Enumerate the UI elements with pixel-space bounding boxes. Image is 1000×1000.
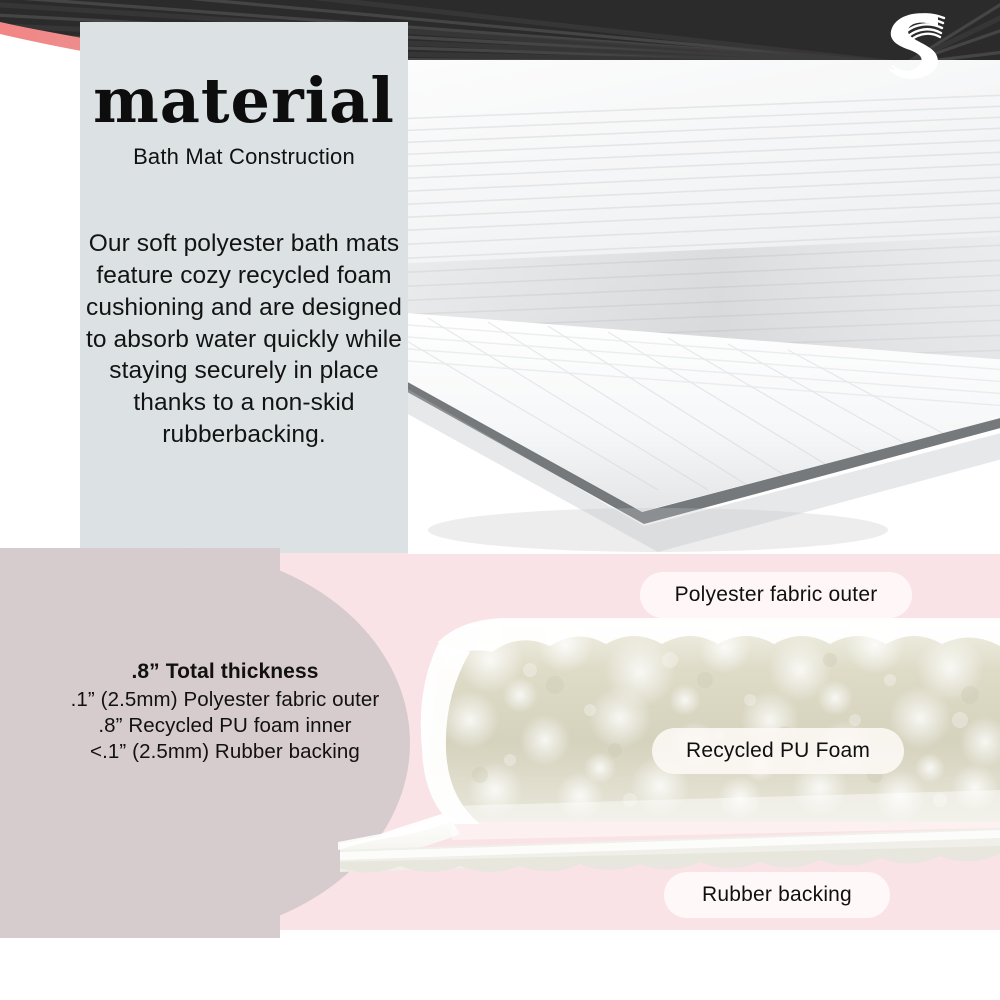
- infographic-canvas: material Bath Mat Construction Our soft …: [0, 0, 1000, 1000]
- product-photo: [408, 60, 1000, 554]
- description-line: Our soft polyester bath mats: [78, 228, 410, 260]
- brand-logo: [862, 4, 960, 86]
- spec-layer-line: <.1” (2.5mm) Rubber backing: [40, 739, 410, 765]
- title-block: material Bath Mat Construction: [80, 70, 408, 170]
- page-subtitle: Bath Mat Construction: [80, 144, 408, 170]
- callout-rubber-backing: Rubber backing: [664, 872, 890, 918]
- spec-layer-line: .1” (2.5mm) Polyester fabric outer: [40, 687, 410, 713]
- description-line: thanks to a non-skid: [78, 387, 410, 419]
- description-line: rubberbacking.: [78, 419, 410, 451]
- description-line: cushioning and are designed: [78, 292, 410, 324]
- description-line: staying securely in place: [78, 355, 410, 387]
- description-line: to absorb water quickly while: [78, 324, 410, 356]
- description-paragraph: Our soft polyester bath mats feature coz…: [78, 228, 410, 451]
- thickness-spec-block: .8” Total thickness .1” (2.5mm) Polyeste…: [40, 660, 410, 766]
- page-title: material: [80, 70, 408, 132]
- bath-mat-corner-illustration: [408, 60, 1000, 554]
- spec-layer-line: .8” Recycled PU foam inner: [40, 713, 410, 739]
- total-thickness-label: .8” Total thickness: [40, 660, 410, 684]
- callout-recycled-pu-foam: Recycled PU Foam: [652, 728, 904, 774]
- description-line: feature cozy recycled foam: [78, 260, 410, 292]
- swoosh-s-logo-icon: [862, 4, 960, 86]
- callout-polyester-fabric-outer: Polyester fabric outer: [640, 572, 912, 618]
